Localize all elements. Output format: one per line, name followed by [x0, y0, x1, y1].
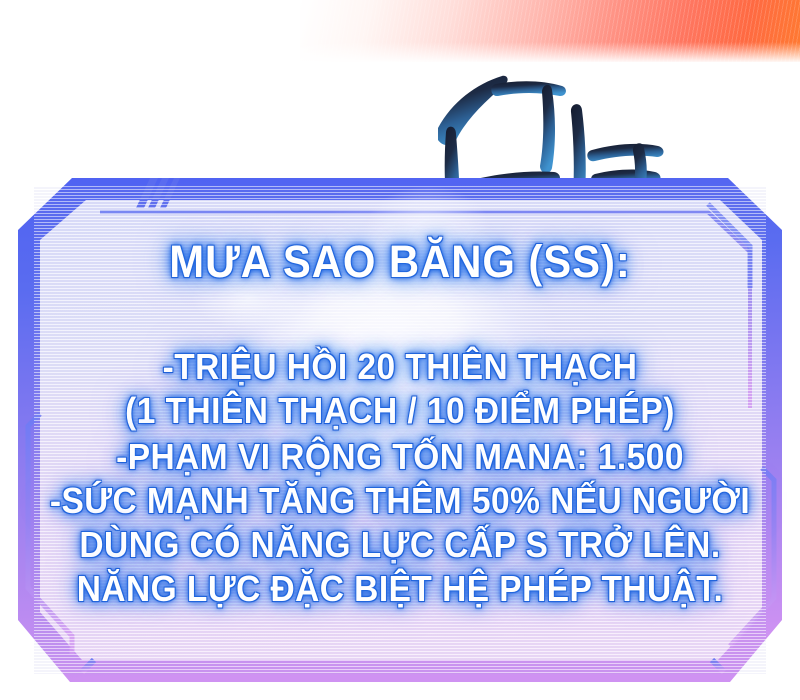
skill-detail-line: NĂNG LỰC ĐẶC BIỆT HỆ PHÉP THUẬT.: [35, 568, 764, 610]
comic-page: MƯA SAO BĂNG (SS): -TRIỆU HỒI 20 THIÊN T…: [0, 0, 800, 700]
sky-fade-to-white: [300, 42, 800, 76]
skill-detail-line: -SỨC MẠNH TĂNG THÊM 50% NẾU NGƯỜI: [35, 480, 764, 522]
system-status-panel: MƯA SAO BĂNG (SS): -TRIỆU HỒI 20 THIÊN T…: [8, 168, 792, 692]
panel-text-layer: MƯA SAO BĂNG (SS): -TRIỆU HỒI 20 THIÊN T…: [8, 168, 792, 692]
skill-detail-line: (1 THIÊN THẠCH / 10 ĐIỂM PHÉP): [35, 390, 764, 432]
skill-title: MƯA SAO BĂNG (SS):: [35, 236, 764, 288]
skill-detail-line: -PHẠM VI RỘNG TỐN MANA: 1.500: [35, 436, 764, 478]
skill-detail-line: DÙNG CÓ NĂNG LỰC CẤP S TRỞ LÊN.: [35, 524, 764, 566]
skill-detail-line: -TRIỆU HỒI 20 THIÊN THẠCH: [35, 346, 764, 388]
